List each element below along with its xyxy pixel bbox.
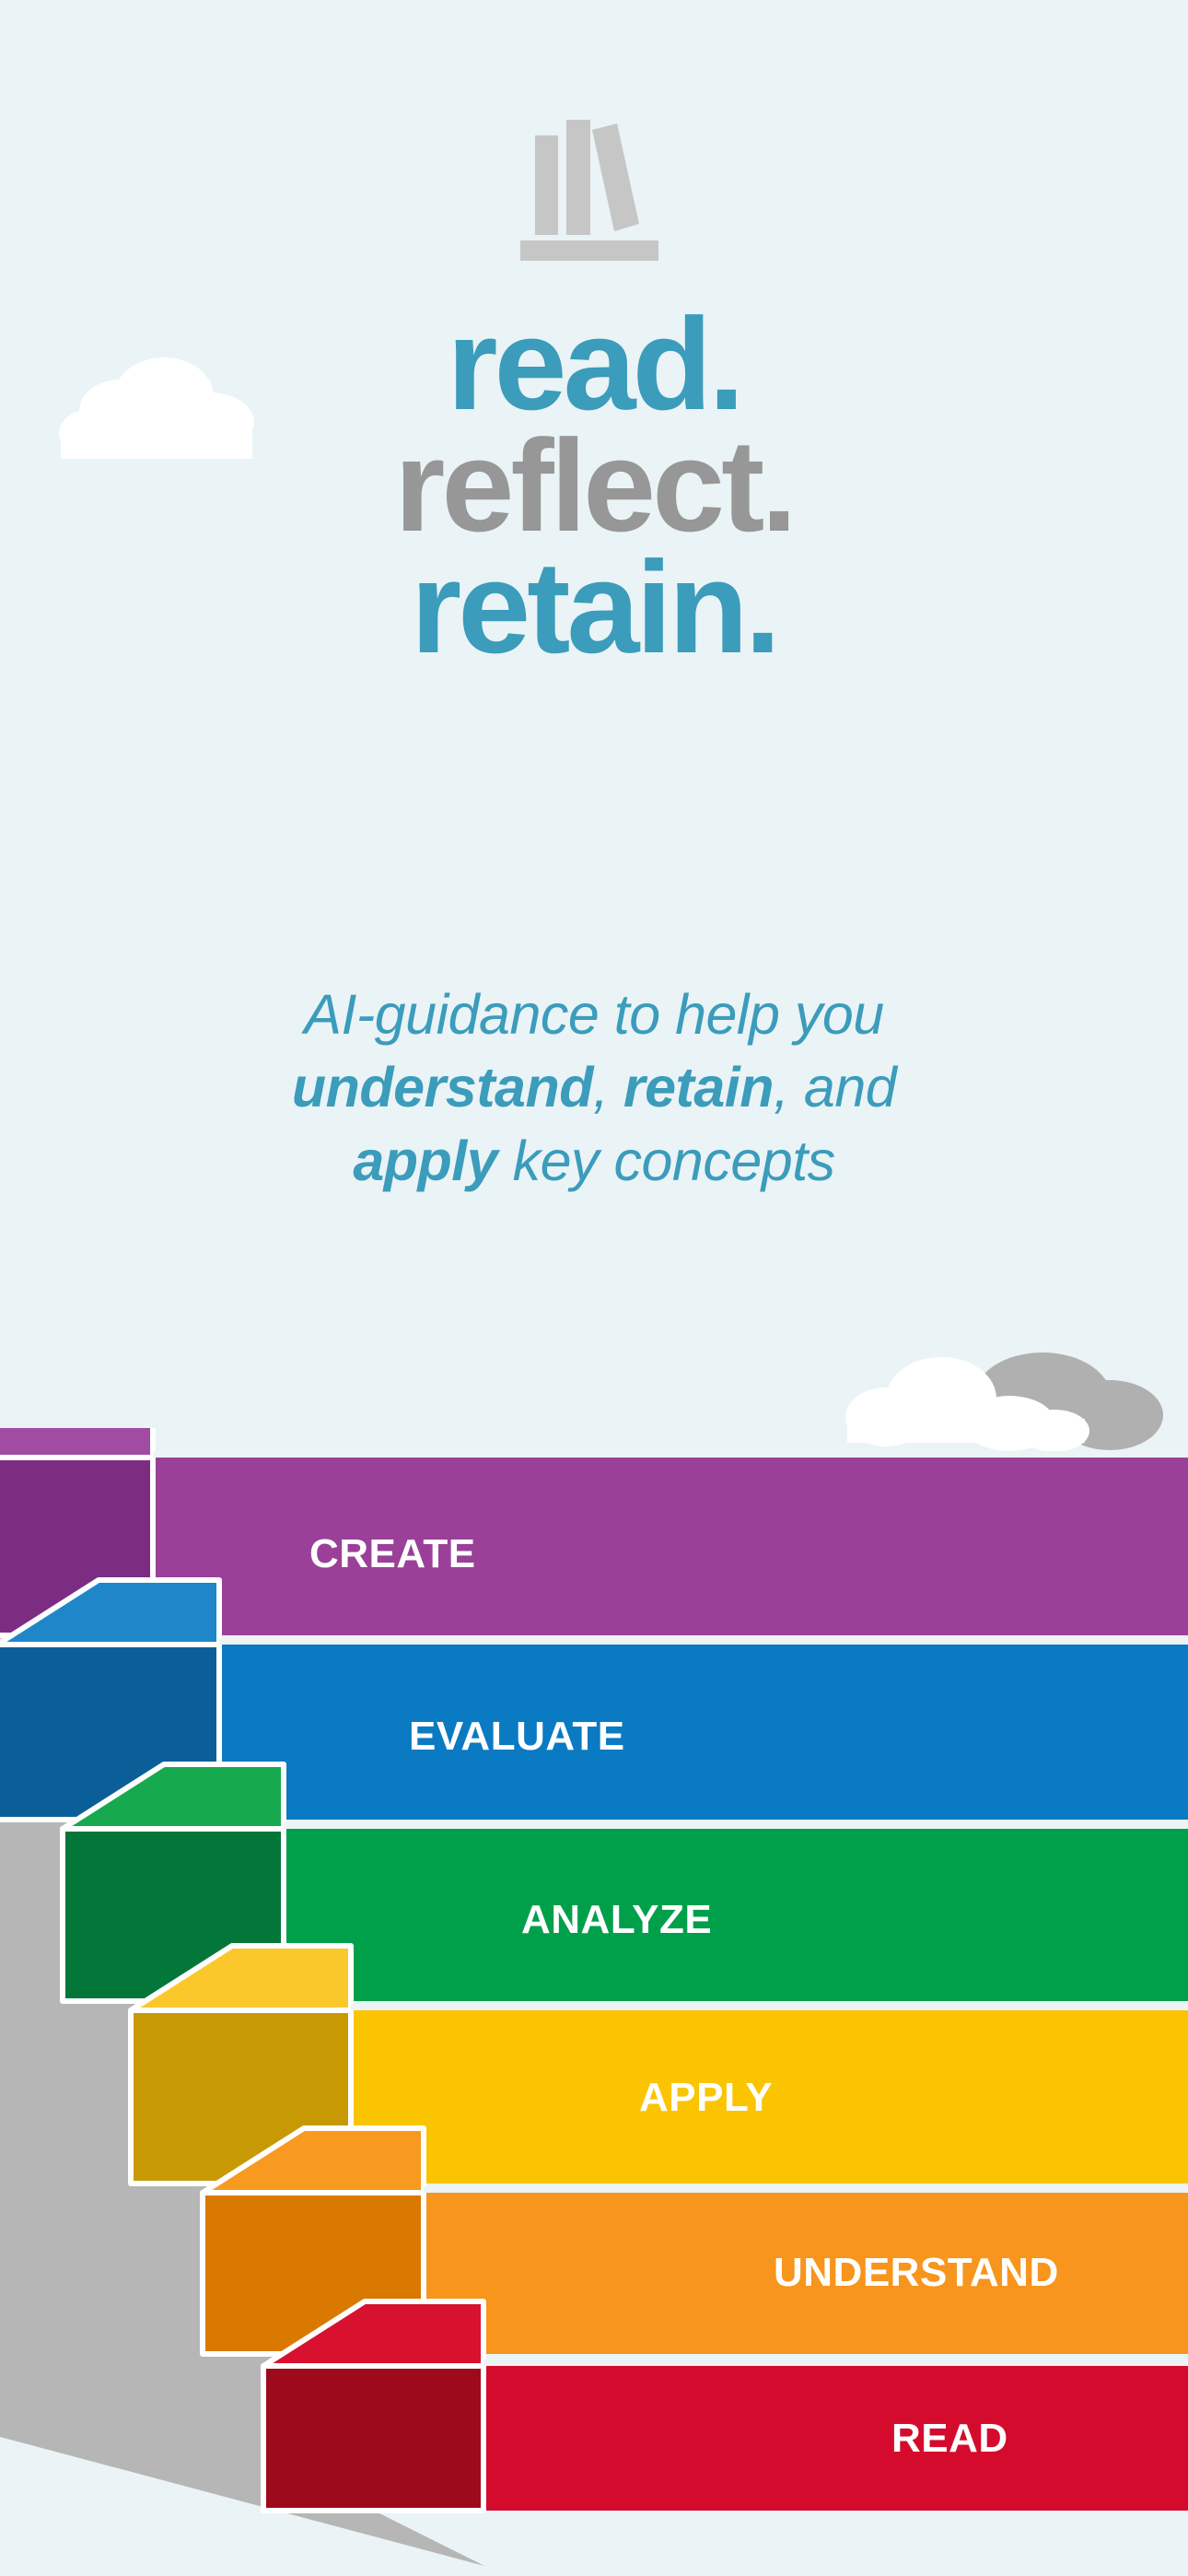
step-label-understand: UNDERSTAND	[774, 2250, 1059, 2296]
subtitle: AI-guidance to help you understand, reta…	[0, 978, 1188, 1198]
step-label-evaluate: EVALUATE	[409, 1714, 625, 1760]
step-label-create: CREATE	[309, 1531, 476, 1577]
step-label-analyze: ANALYZE	[521, 1897, 712, 1943]
headline-line-reflect: reflect.	[0, 426, 1188, 547]
headline-line-retain: retain.	[0, 547, 1188, 669]
page-title: read. reflect. retain.	[0, 304, 1188, 669]
step-label-read: READ	[891, 2416, 1008, 2462]
headline-line-read: read.	[0, 304, 1188, 426]
promo-screen: read. reflect. retain. AI-guidance to he…	[0, 0, 1188, 2576]
subtitle-bold-retain: retain	[623, 1056, 774, 1118]
step-label-apply: APPLY	[639, 2075, 773, 2121]
subtitle-prefix: AI-guidance to help you	[304, 983, 883, 1046]
books-on-shelf-logo	[511, 118, 677, 265]
books-icon	[520, 120, 658, 261]
subtitle-sep-1: ,	[593, 1056, 623, 1118]
subtitle-bold-understand: understand	[292, 1056, 593, 1118]
subtitle-suffix: key concepts	[497, 1130, 834, 1192]
blooms-taxonomy-staircase: CREATEEVALUATEANALYZEAPPLYUNDERSTANDREAD	[0, 1428, 1188, 2576]
subtitle-sep-2: , and	[774, 1056, 896, 1118]
subtitle-bold-apply: apply	[353, 1130, 497, 1192]
